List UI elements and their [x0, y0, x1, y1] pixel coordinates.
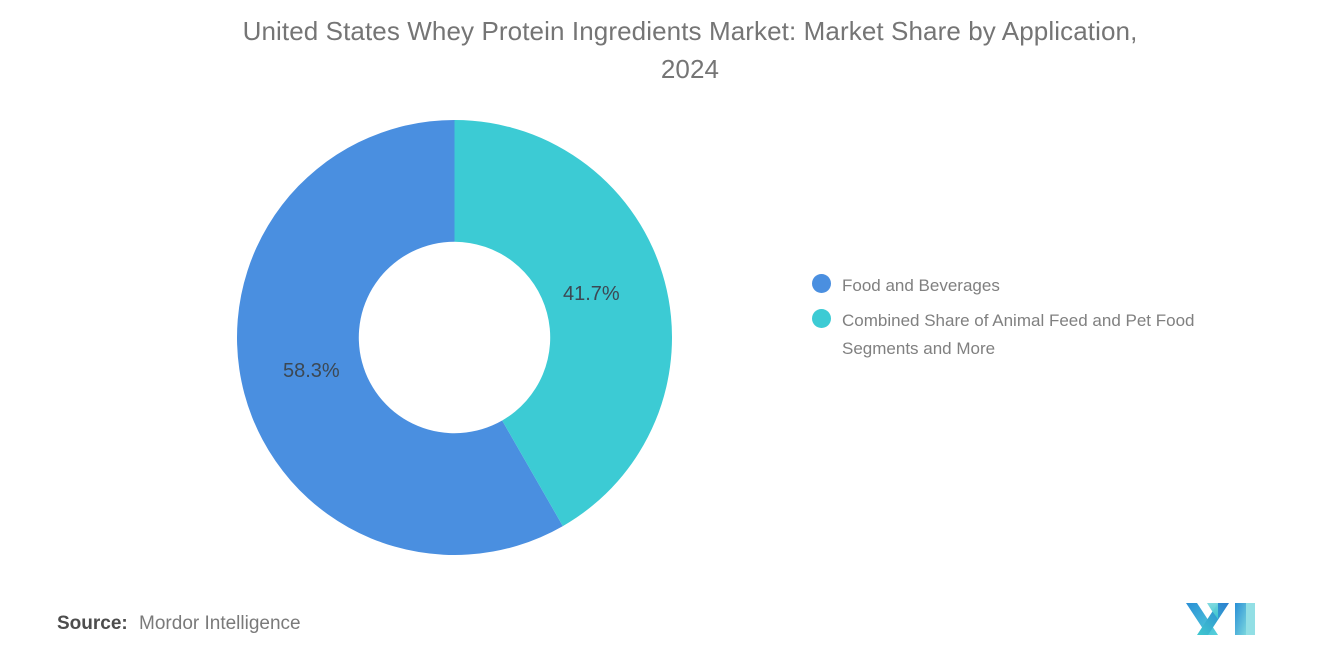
donut-label-food-and-beverages: 58.3%: [283, 360, 340, 383]
legend-item-combined-share[interactable]: Combined Share of Animal Feed and Pet Fo…: [812, 307, 1272, 363]
donut-slices: [237, 120, 672, 555]
legend-swatch-circle-icon: [812, 274, 831, 293]
legend-label-food-and-beverages: Food and Beverages: [842, 272, 1000, 300]
source-line: Source: Mordor Intelligence: [57, 613, 301, 635]
chart-canvas: United States Whey Protein Ingredients M…: [0, 0, 1320, 665]
chart-title: United States Whey Protein Ingredients M…: [155, 12, 1225, 88]
chart-legend: Food and Beverages Combined Share of Ani…: [812, 272, 1272, 370]
legend-swatch-circle-icon: [812, 309, 831, 328]
donut-chart-svg: [237, 120, 672, 555]
donut-label-combined-share: 41.7%: [563, 283, 620, 306]
legend-item-food-and-beverages[interactable]: Food and Beverages: [812, 272, 1272, 300]
source-label: Source:: [57, 613, 128, 634]
mordor-intelligence-logo-icon: [1185, 597, 1257, 639]
legend-label-combined-share: Combined Share of Animal Feed and Pet Fo…: [842, 307, 1252, 363]
donut-chart: [237, 120, 672, 555]
source-value: Mordor Intelligence: [134, 613, 301, 634]
